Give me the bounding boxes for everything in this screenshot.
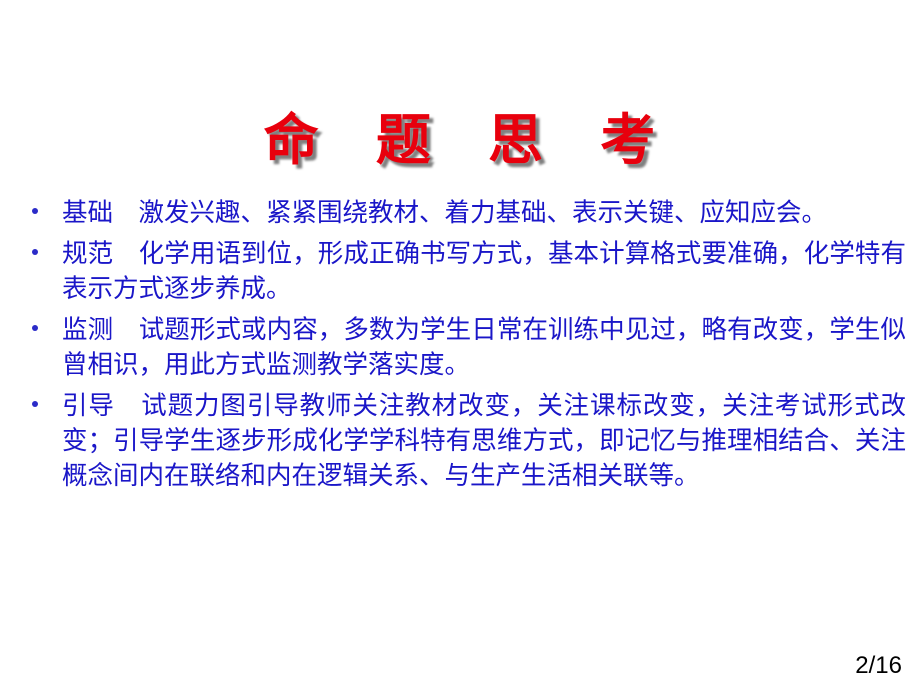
bullet-dot-icon [32, 401, 38, 407]
list-item: 监测 试题形式或内容，多数为学生日常在训练中见过，略有改变，学生似曾相识，用此方… [22, 313, 906, 383]
bullet-list: 基础 激发兴趣、紧紧围绕教材、着力基础、表示关键、应知应会。 规范 化学用语到位… [22, 196, 906, 500]
bullet-dot-icon [32, 249, 38, 255]
list-item-text: 基础 激发兴趣、紧紧围绕教材、着力基础、表示关键、应知应会。 [62, 196, 906, 231]
bullet-dot-icon [32, 325, 38, 331]
page-number: 2/16 [855, 652, 902, 680]
list-item: 规范 化学用语到位，形成正确书写方式，基本计算格式要准确，化学特有表示方式逐步养… [22, 237, 906, 307]
list-item-text: 监测 试题形式或内容，多数为学生日常在训练中见过，略有改变，学生似曾相识，用此方… [62, 313, 906, 383]
list-item-text: 引导 试题力图引导教师关注教材改变，关注课标改变，关注考试形式改变；引导学生逐步… [62, 389, 906, 494]
list-item-text: 规范 化学用语到位，形成正确书写方式，基本计算格式要准确，化学特有表示方式逐步养… [62, 237, 906, 307]
presentation-slide: 命 题 思 考 基础 激发兴趣、紧紧围绕教材、着力基础、表示关键、应知应会。 规… [0, 0, 920, 690]
bullet-dot-icon [32, 208, 38, 214]
slide-title: 命 题 思 考 [0, 108, 920, 172]
list-item: 引导 试题力图引导教师关注教材改变，关注课标改变，关注考试形式改变；引导学生逐步… [22, 389, 906, 494]
list-item: 基础 激发兴趣、紧紧围绕教材、着力基础、表示关键、应知应会。 [22, 196, 906, 231]
